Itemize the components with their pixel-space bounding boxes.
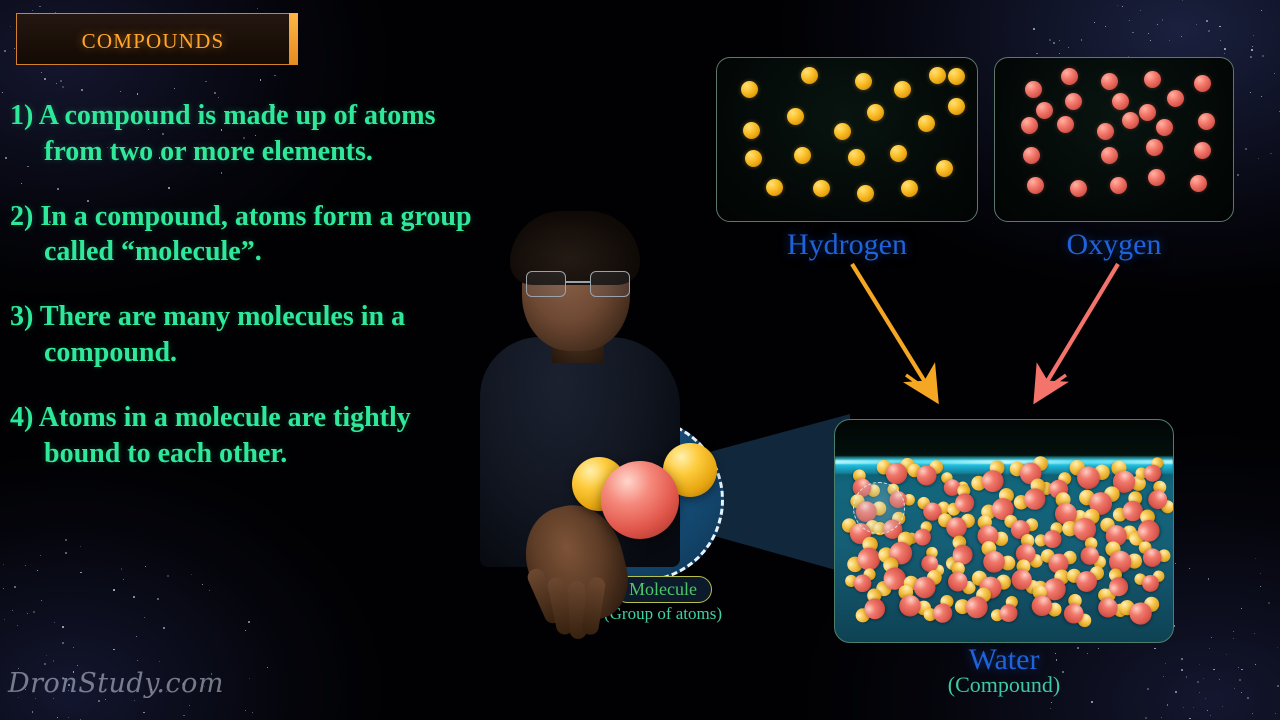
bullet-line-1: In a compound, atoms form a group <box>40 201 471 232</box>
glasses-right-lens <box>590 271 630 297</box>
oxygen-atom <box>1146 139 1163 156</box>
hydrogen-atom <box>813 180 830 197</box>
hydrogen-arrow <box>852 264 930 390</box>
oxygen-atom <box>1101 147 1118 164</box>
hydrogen-atom <box>794 147 811 164</box>
hydrogen-atom <box>848 149 865 166</box>
bullet-line-1: Atoms in a molecule are tightly <box>39 402 411 433</box>
hydrogen-atom <box>894 81 911 98</box>
hydrogen-atom <box>834 123 851 140</box>
oxygen-atom <box>1198 113 1215 130</box>
highlighted-molecule-marker <box>853 482 905 534</box>
oxygen-atom <box>1023 147 1040 164</box>
hydrogen-atom <box>743 122 760 139</box>
page-title-box: Compounds <box>16 13 290 65</box>
water-container <box>834 419 1174 643</box>
oxygen-atom <box>1065 93 1082 110</box>
list-item: 3) There are many molecules in a compoun… <box>10 299 520 371</box>
oxygen-atom <box>1156 119 1173 136</box>
hydrogen-atom <box>929 67 946 84</box>
bullet-list: 1) A compound is made up of atoms from t… <box>10 98 520 501</box>
oxygen-atom <box>1190 175 1207 192</box>
hydrogen-atom <box>936 160 953 177</box>
hydrogen-arrow-barb <box>906 375 930 392</box>
molecule-oxygen-atom <box>601 461 679 539</box>
oxygen-label: Oxygen <box>994 228 1234 262</box>
glasses-bridge <box>566 281 590 283</box>
oxygen-atom <box>1097 123 1114 140</box>
oxygen-atom <box>1112 93 1129 110</box>
hydrogen-atom <box>948 68 965 85</box>
hydrogen-container <box>716 57 978 222</box>
oxygen-atom <box>1101 73 1118 90</box>
oxygen-container <box>994 57 1234 222</box>
oxygen-atom <box>1061 68 1078 85</box>
oxygen-atom <box>1167 90 1184 107</box>
glasses-icon <box>526 271 630 297</box>
bullet-number: 1) <box>10 100 33 131</box>
slide-canvas: Compounds 1) A compound is made up of at… <box>0 0 1280 720</box>
oxygen-atom <box>1122 112 1139 129</box>
water-molecule <box>1119 596 1161 630</box>
presenter-video-overlay <box>470 205 690 635</box>
hydrogen-label: Hydrogen <box>716 228 978 262</box>
list-item: 2) In a compound, atoms form a group cal… <box>10 199 520 271</box>
water-sublabel: (Compound) <box>834 672 1174 698</box>
hydrogen-atom <box>801 67 818 84</box>
oxygen-atom <box>1027 177 1044 194</box>
oxygen-atom <box>1070 180 1087 197</box>
oxygen-atom <box>1144 71 1161 88</box>
bullet-number: 4) <box>10 402 33 433</box>
molecule-oxygen-atom <box>1141 574 1160 593</box>
molecule-oxygen-atom <box>1076 570 1098 592</box>
bullet-line-2: called “molecule”. <box>10 234 520 270</box>
list-item: 1) A compound is made up of atoms from t… <box>10 98 520 170</box>
molecule-oxygen-atom <box>886 463 908 485</box>
bullet-line-2: compound. <box>10 335 520 371</box>
oxygen-atom <box>1110 177 1127 194</box>
title-accent-bar <box>289 13 298 65</box>
water-label: Water <box>834 645 1174 675</box>
bullet-line-2: from two or more elements. <box>10 134 520 170</box>
oxygen-atom <box>1057 116 1074 133</box>
bullet-number: 3) <box>10 301 33 332</box>
oxygen-arrow-barb <box>1042 375 1066 392</box>
hydrogen-atom <box>890 145 907 162</box>
hydrogen-atom <box>918 115 935 132</box>
bullet-number: 2) <box>10 201 33 232</box>
hydrogen-atom <box>745 150 762 167</box>
glasses-left-lens <box>526 271 566 297</box>
oxygen-atom <box>1148 169 1165 186</box>
oxygen-atom <box>1025 81 1042 98</box>
oxygen-atom <box>1036 102 1053 119</box>
hydrogen-atom <box>741 81 758 98</box>
oxygen-atom <box>1194 75 1211 92</box>
water-molecule <box>1134 570 1167 596</box>
oxygen-atom <box>1139 104 1156 121</box>
hydrogen-atom <box>901 180 918 197</box>
hydrogen-atom <box>867 104 884 121</box>
oxygen-atom <box>1021 117 1038 134</box>
watermark: DronStudy.com <box>8 668 224 699</box>
bullet-line-2: bound to each other. <box>10 436 520 472</box>
list-item: 4) Atoms in a molecule are tightly bound… <box>10 400 520 472</box>
hydrogen-atom <box>766 179 783 196</box>
hydrogen-atom <box>787 108 804 125</box>
oxygen-arrow <box>1042 264 1118 390</box>
hydrogen-atom <box>948 98 965 115</box>
bullet-line-1: There are many molecules in a <box>40 301 405 332</box>
hydrogen-atom <box>857 185 874 202</box>
page-title: Compounds <box>82 22 225 56</box>
hydrogen-atom <box>855 73 872 90</box>
bullet-line-1: A compound is made up of atoms <box>39 100 436 131</box>
oxygen-atom <box>1194 142 1211 159</box>
